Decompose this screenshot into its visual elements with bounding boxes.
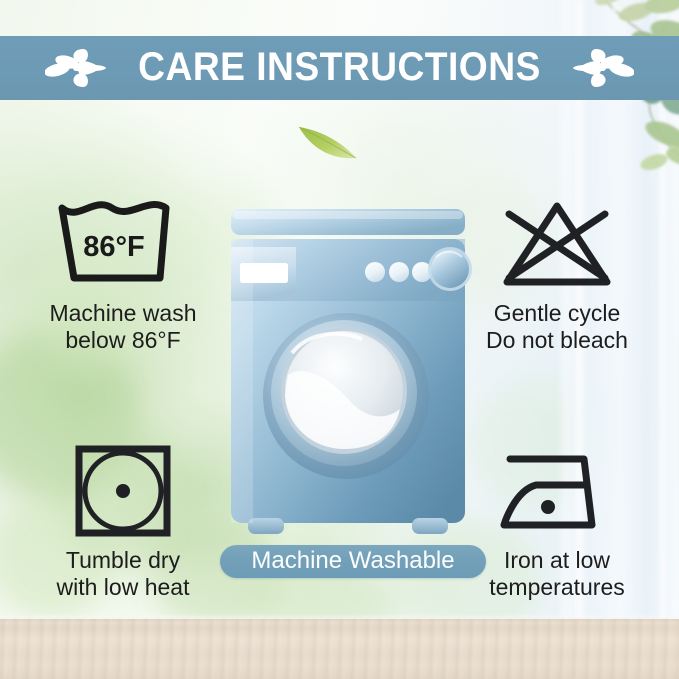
machine-button-1 xyxy=(365,262,385,282)
machine-washable-badge: Machine Washable xyxy=(220,545,486,578)
machine-foot-left xyxy=(248,518,284,534)
machine-button-2 xyxy=(389,262,409,282)
page-title: CARE INSTRUCTIONS xyxy=(138,47,541,89)
care-symbol-dry-label: Tumble dry with low heat xyxy=(57,547,190,600)
wash-temperature-value: 86°F xyxy=(83,231,145,263)
care-symbol-iron: Iron at low temperatures xyxy=(452,443,662,600)
care-symbol-wash-label: Machine wash below 86°F xyxy=(49,300,196,353)
care-symbol-wash: 86°F Machine wash below 86°F xyxy=(18,196,228,353)
do-not-bleach-triangle-icon xyxy=(487,196,627,292)
iron-low-heat-icon xyxy=(492,443,622,539)
wash-tub-icon: 86°F xyxy=(52,196,194,292)
machine-foot-right xyxy=(412,518,448,534)
fleur-de-lis-icon-right xyxy=(572,45,634,91)
fleur-de-lis-icon-left xyxy=(45,45,107,91)
care-instructions-graphic: CARE INSTRUCTIONS 86°F Mac xyxy=(0,0,679,679)
floating-leaf-icon xyxy=(296,120,360,164)
table-wood-grain xyxy=(0,619,679,679)
care-symbol-bleach: Gentle cycle Do not bleach xyxy=(452,196,662,353)
plant-foliage xyxy=(580,0,679,206)
machine-washable-badge-label: Machine Washable xyxy=(251,549,454,575)
care-symbol-iron-label: Iron at low temperatures xyxy=(489,547,625,600)
washing-machine-illustration xyxy=(222,205,474,550)
care-symbol-dry: Tumble dry with low heat xyxy=(18,443,228,600)
header-banner: CARE INSTRUCTIONS xyxy=(0,36,679,100)
care-symbol-bleach-label: Gentle cycle Do not bleach xyxy=(486,300,628,353)
tumble-dry-low-icon xyxy=(73,443,173,539)
